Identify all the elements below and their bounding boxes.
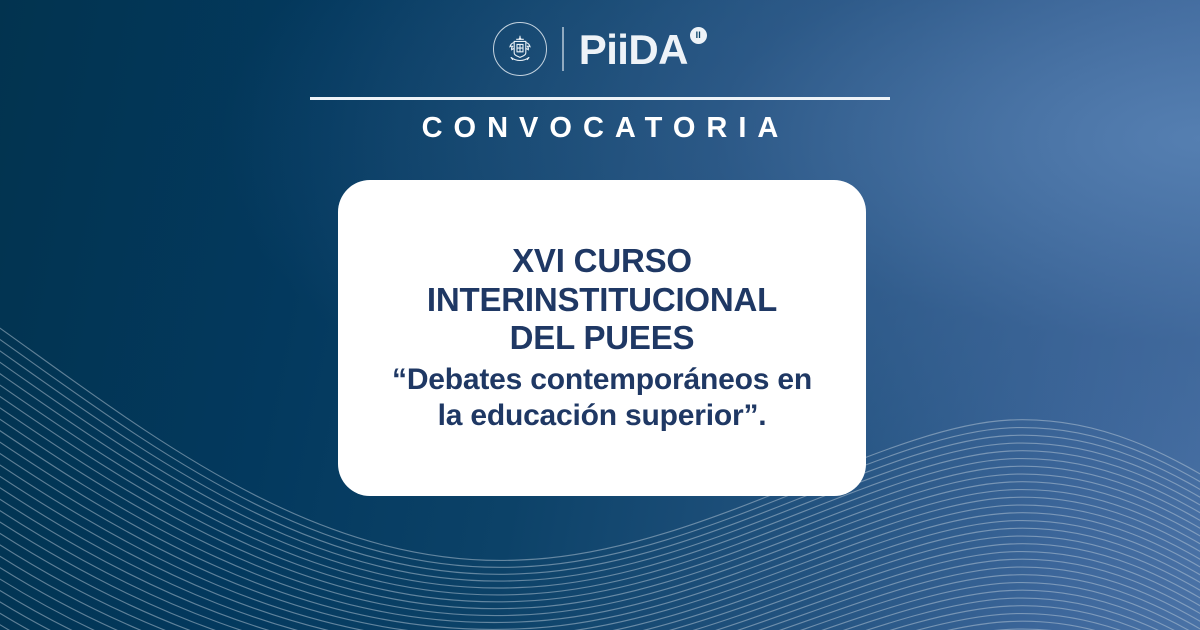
card-title-line: XVI CURSO (427, 242, 777, 281)
card-subtitle: “Debates contemporáneos en la educación … (392, 362, 812, 434)
brand-header: PiiDA II (0, 22, 1200, 76)
horizontal-rule-icon (310, 97, 890, 100)
kicker-label: CONVOCATORIA (0, 112, 1200, 145)
vertical-divider-icon (562, 27, 564, 71)
card-subtitle-line: “Debates contemporáneos en (392, 362, 812, 398)
card-subtitle-line: la educación superior”. (392, 398, 812, 434)
card-title: XVI CURSO INTERINSTITUCIONAL DEL PUEES (427, 242, 777, 358)
card-title-line: DEL PUEES (427, 319, 777, 358)
poster-canvas: PiiDA II CONVOCATORIA XVI CURSO INTERINS… (0, 0, 1200, 630)
university-coat-of-arms-icon (493, 22, 547, 76)
announcement-card: XVI CURSO INTERINSTITUCIONAL DEL PUEES “… (338, 180, 866, 496)
wordmark-text: PiiDA (579, 29, 688, 71)
piida-wordmark: PiiDA II (579, 27, 707, 71)
card-title-line: INTERINSTITUCIONAL (427, 281, 777, 320)
wordmark-badge-icon: II (690, 27, 707, 44)
